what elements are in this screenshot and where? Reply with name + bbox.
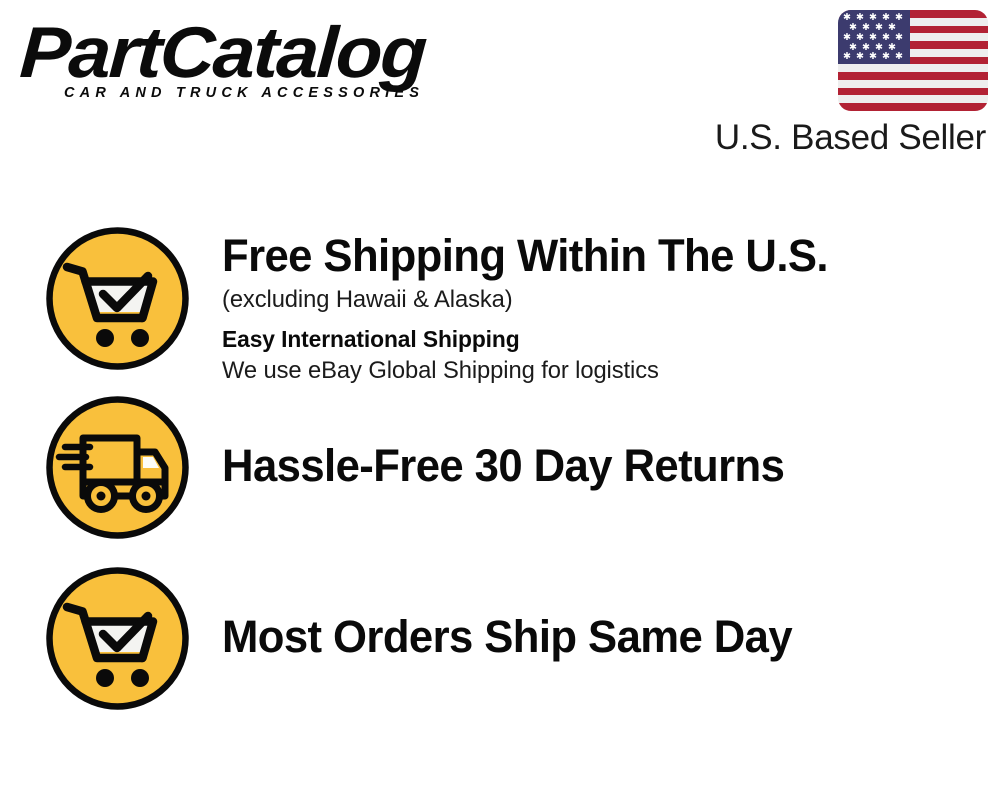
shopping-cart-check-icon [45, 566, 190, 711]
us-flag-icon: ✱ ✱ ✱ ✱ ✱ ✱ ✱ ✱ ✱ ✱ ✱ ✱ ✱ ✱ ✱ ✱ ✱ ✱ ✱ ✱ [838, 10, 988, 111]
feature-list: Free Shipping Within The U.S. (excluding… [0, 222, 1000, 735]
flag-stripe [838, 88, 988, 96]
feature-note: (excluding Hawaii & Alaska) [222, 285, 940, 315]
flag-stripe [838, 64, 988, 72]
flag-stripe [838, 95, 988, 103]
flag-star: ✱ [843, 52, 851, 62]
feature-title: Hassle-Free 30 Day Returns [222, 440, 940, 492]
feature-row: Most Orders Ship Same Day [0, 564, 1000, 735]
flag-star: ✱ [895, 13, 903, 23]
flag-canton: ✱ ✱ ✱ ✱ ✱ ✱ ✱ ✱ ✱ ✱ ✱ ✱ ✱ ✱ ✱ ✱ ✱ ✱ ✱ ✱ [838, 10, 910, 64]
flag-star: ✱ [882, 52, 890, 62]
flag-star: ✱ [869, 52, 877, 62]
partcatalog-logo[interactable]: PartCatalog CAR AND TRUCK ACCESSORIES [22, 18, 492, 102]
flag-star: ✱ [895, 52, 903, 62]
feature-sub-title: Easy International Shipping [222, 325, 940, 354]
feature-row: Free Shipping Within The U.S. (excluding… [0, 222, 1000, 393]
flag-star: ✱ [895, 33, 903, 43]
logo-wordmark: PartCatalog [18, 18, 520, 88]
feature-text-block: Most Orders Ship Same Day [222, 611, 962, 663]
us-based-seller-badge: ✱ ✱ ✱ ✱ ✱ ✱ ✱ ✱ ✱ ✱ ✱ ✱ ✱ ✱ ✱ ✱ ✱ ✱ ✱ ✱ [688, 10, 988, 159]
us-based-seller-label: U.S. Based Seller [688, 117, 986, 159]
flag-stripe [838, 80, 988, 88]
banner-header: PartCatalog CAR AND TRUCK ACCESSORIES ✱ … [0, 0, 1000, 180]
shopping-cart-check-icon [45, 226, 190, 371]
flag-stripe [838, 72, 988, 80]
feature-sub-note: We use eBay Global Shipping for logistic… [222, 355, 940, 386]
delivery-truck-icon [45, 395, 190, 540]
feature-text-block: Hassle-Free 30 Day Returns [222, 440, 962, 492]
flag-stripe [838, 103, 988, 111]
feature-text-block: Free Shipping Within The U.S. (excluding… [222, 230, 962, 386]
feature-title: Free Shipping Within The U.S. [222, 230, 940, 282]
flag-star: ✱ [856, 52, 864, 62]
feature-row: Hassle-Free 30 Day Returns [0, 393, 1000, 564]
feature-title: Most Orders Ship Same Day [222, 611, 940, 663]
